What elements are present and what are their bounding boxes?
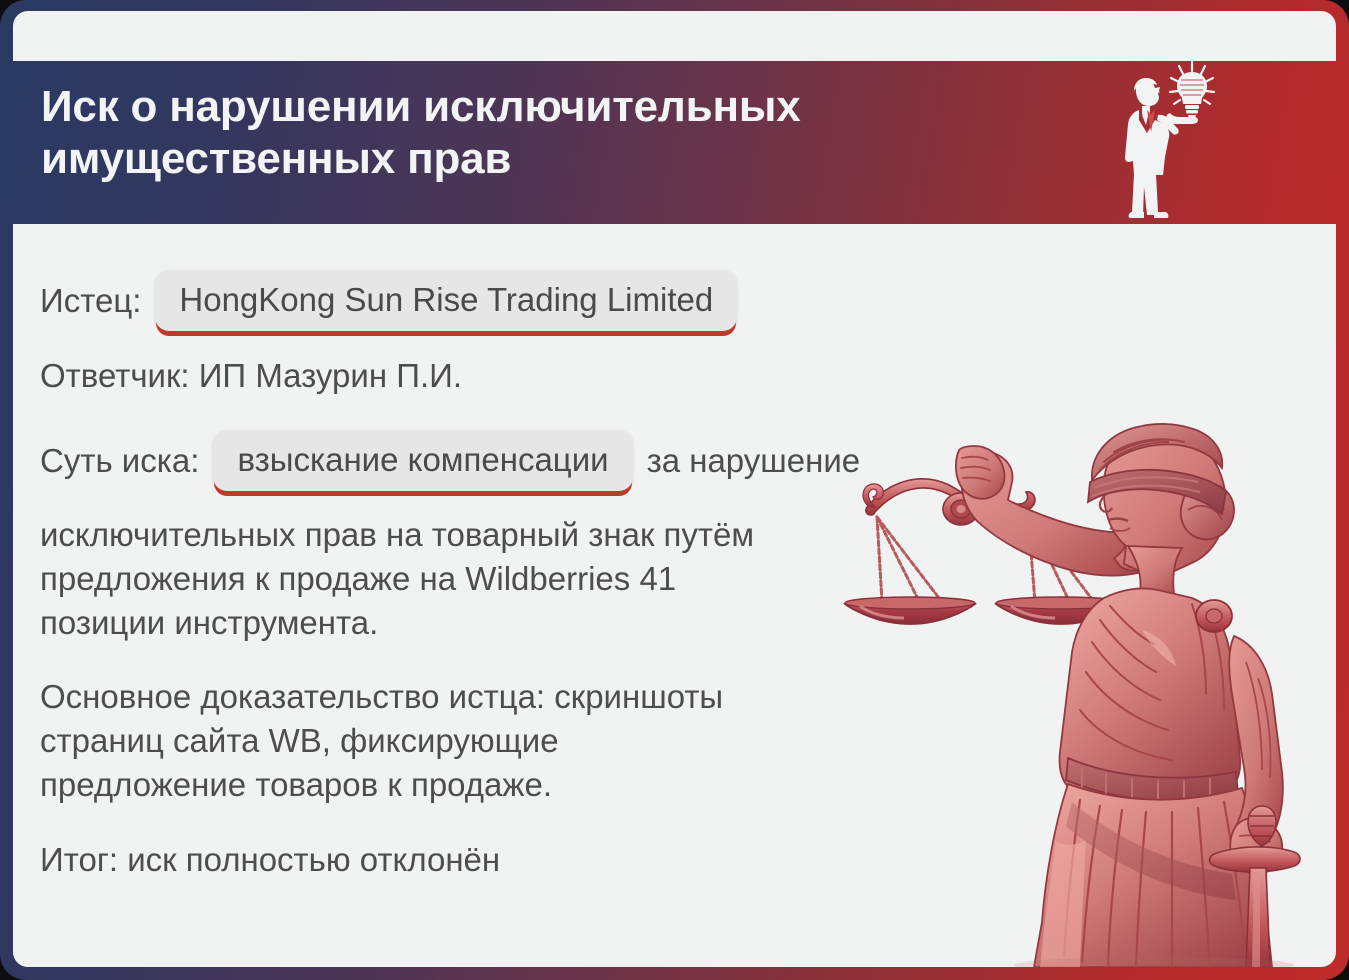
evidence-paragraph: Основное доказательство истца: скриншоты… <box>40 675 910 807</box>
claim-highlight-chip[interactable]: взыскание компенсации <box>213 430 632 491</box>
claim-label: Суть иска: <box>40 442 199 480</box>
plaintiff-value-chip[interactable]: HongKong Sun Rise Trading Limited <box>155 270 737 331</box>
outcome-line: Итог: иск полностью отклонён <box>40 837 1040 884</box>
card-top-strip <box>13 11 1336 61</box>
plaintiff-label: Истец: <box>40 282 141 320</box>
page-title: Иск о нарушении исключительных имуществе… <box>41 81 941 185</box>
card-body: Истец: HongKong Sun Rise Trading Limited… <box>13 224 1336 967</box>
infographic-card: Иск о нарушении исключительных имуществе… <box>0 0 1349 980</box>
card-header: Иск о нарушении исключительных имуществе… <box>13 61 1336 224</box>
plaintiff-row: Истец: HongKong Sun Rise Trading Limited <box>40 270 1040 331</box>
claim-row: Суть иска: взыскание компенсации за нару… <box>40 430 1040 491</box>
businessman-with-lightbulb-icon <box>1106 61 1216 223</box>
claim-continuation: исключительных прав на товарный знак пут… <box>40 513 885 645</box>
card-content: Истец: HongKong Sun Rise Trading Limited… <box>40 270 1040 883</box>
claim-after-text: за нарушение <box>647 442 861 480</box>
defendant-line: Ответчик: ИП Мазурин П.И. <box>40 353 1040 400</box>
